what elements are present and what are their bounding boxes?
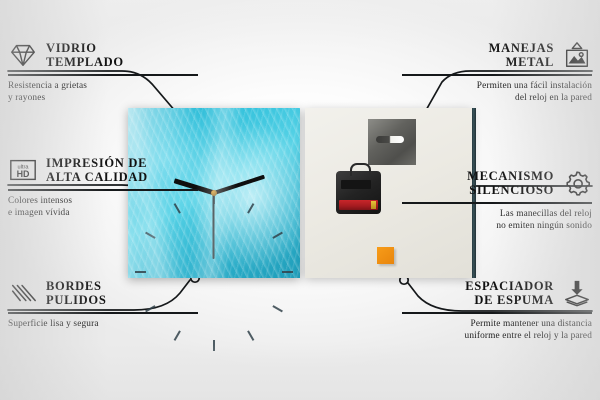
picture-frame-icon [562,40,592,70]
feature-title: BORDESPULIDOS [46,279,106,308]
divider [8,312,198,314]
divider [8,189,198,191]
arrow-down-stack-icon [562,278,592,308]
feature-manejas-metal: MANEJASMETAL Permiten una fácil instalac… [402,40,592,104]
feature-espaciador-espuma: ESPACIADORDE ESPUMA Permite mantener una… [402,278,592,342]
feature-description: Superficie lisa y segura [8,318,198,330]
svg-text:HD: HD [17,169,30,179]
divider [402,312,592,314]
feature-title: MANEJASMETAL [489,41,554,70]
metal-hanger-plate [368,119,416,165]
clock-center-pin [211,190,217,196]
feature-description: Colores intensose imagen vívida [8,195,198,220]
feature-description: Permite mantener una distanciauniforme e… [402,318,592,343]
foam-spacer [377,247,394,264]
feature-title: VIDRIOTEMPLADO [46,41,124,70]
product-infographic: VIDRIOTEMPLADO Resistencia a grietasy ra… [0,0,600,400]
feature-vidrio-templado: VIDRIOTEMPLADO Resistencia a grietasy ra… [8,40,198,104]
divider [8,74,198,76]
gear-icon [562,168,592,198]
aa-battery [339,200,378,210]
feature-bordes-pulidos: BORDESPULIDOS Superficie lisa y segura [8,278,198,330]
clock-second-hand [213,193,215,259]
clock-minute-hand [213,175,265,195]
feature-title: ESPACIADORDE ESPUMA [465,279,554,308]
movement-hanger-loop [350,163,371,176]
feature-title: MECANISMOSILENCIOSO [467,169,554,198]
feature-impresion-alta-calidad: ultra HD IMPRESIÓN DEALTA CALIDAD Colore… [8,155,198,219]
feature-description: Permiten una fácil instalacióndel reloj … [402,80,592,105]
hanger-slot [376,136,404,143]
feature-title: IMPRESIÓN DEALTA CALIDAD [46,156,148,185]
diamond-icon [8,40,38,70]
divider [402,202,592,204]
diagonal-lines-icon [8,278,38,308]
divider [402,74,592,76]
feature-description: Resistencia a grietasy rayones [8,80,198,105]
feature-description: Las manecillas del relojno emiten ningún… [402,208,592,233]
ultra-hd-icon: ultra HD [8,155,38,185]
movement-detail [341,180,371,189]
quartz-movement [336,171,381,214]
feature-mecanismo-silencioso: MECANISMOSILENCIOSO Las manecillas del r… [402,168,592,232]
